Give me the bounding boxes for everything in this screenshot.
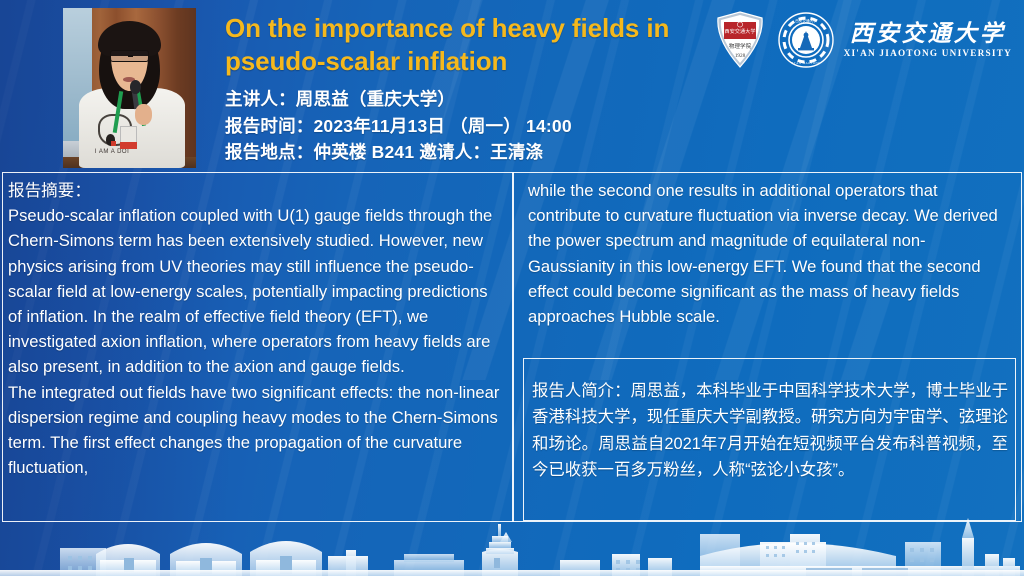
svg-text:西安交通大学: 西安交通大学 [795,18,817,23]
photo-glasses-bridge [128,55,133,57]
speaker-photo: I AM A DOI [63,8,196,168]
meta-venue: 报告地点：仲英楼 B241 邀请人：王清涤 [225,139,695,166]
abstract-column-divider [512,172,514,522]
meta-speaker: 主讲人：周思益（重庆大学） [225,86,695,113]
abstract-paragraph-1: Pseudo-scalar inflation coupled with U(1… [8,203,506,379]
svg-text:1928: 1928 [734,53,745,59]
abstract-left-column: 报告摘要： Pseudo-scalar inflation coupled wi… [8,178,506,518]
abstract-heading: 报告摘要： [8,178,506,203]
page-title: On the importance of heavy fields in pse… [225,12,685,78]
abstract-right-column: while the second one results in addition… [528,178,1008,329]
photo-tee-text: I AM A DOI [95,149,135,159]
abstract-paragraph-2: The integrated out fields have two signi… [8,380,506,481]
xjtu-seal-logo: 西安交通大学 XI'AN JIAOTONG [778,12,834,68]
svg-text:XI'AN JIAOTONG: XI'AN JIAOTONG [791,61,821,65]
seminar-poster: I AM A DOI On the importance of heavy fi… [0,0,1024,576]
photo-hand [135,104,152,125]
wordmark-english: XI'AN JIAOTONG UNIVERSITY [844,47,1012,59]
talk-meta: 主讲人：周思益（重庆大学） 报告时间：2023年11月13日 （周一） 14:0… [225,86,695,166]
xian-city-skyline-silhouette [0,514,1024,576]
speaker-bio-text: 报告人简介：周思益，本科毕业于中国科学技术大学，博士毕业于香港科技大学，现任重庆… [532,378,1008,484]
svg-text:物理学院: 物理学院 [728,42,751,50]
svg-text:西安交通大学: 西安交通大学 [724,27,755,35]
meta-time: 报告时间：2023年11月13日 （周一） 14:00 [225,113,695,140]
photo-badge-stripe [120,142,137,148]
university-wordmark: 西安交通大学 XI'AN JIAOTONG UNIVERSITY [844,21,1012,59]
photo-print-red-left [111,141,116,146]
wordmark-chinese: 西安交通大学 [850,21,1006,47]
physics-school-shield-logo: 西安交通大学 物理学院 1928 [714,10,766,70]
logo-group: 西安交通大学 物理学院 1928 西安交通大学 XI'AN JIAOTONG 西… [714,9,1012,71]
